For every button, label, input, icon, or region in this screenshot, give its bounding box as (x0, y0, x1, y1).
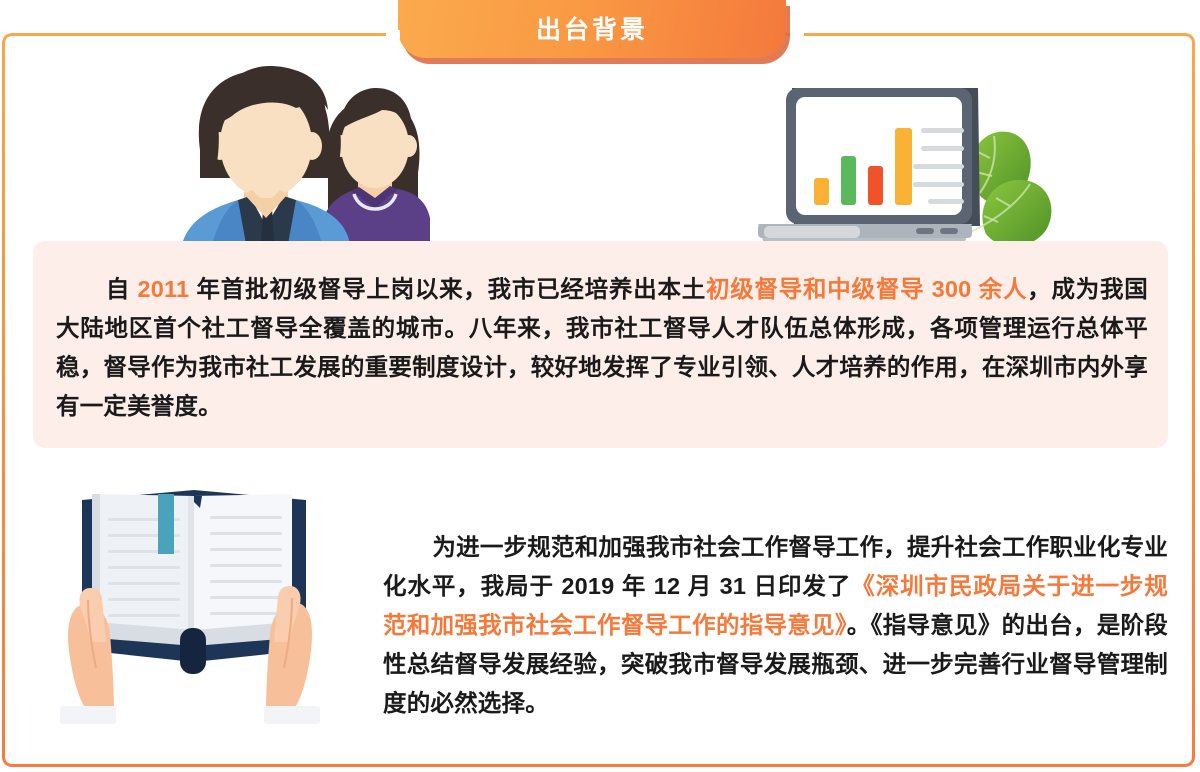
two-people-illustration (168, 58, 430, 244)
infographic-page: 出台背景 (0, 0, 1200, 772)
body-text: 年首批初级督导上岗以来，我市已经培养出本土 (189, 276, 706, 302)
laptop-chart-illustration (758, 66, 1088, 248)
highlighted-text: 初级督导和中级督导 300 余人 (706, 276, 1027, 302)
body-text: 自 (105, 276, 137, 302)
paragraph-background: 自 2011 年首批初级督导上岗以来，我市已经培养出本土初级督导和中级督导 30… (56, 270, 1148, 426)
bookmark (158, 494, 174, 554)
page-title: 出台背景 (536, 16, 648, 43)
paragraph-policy: 为进一步规范和加强我市社会工作督导工作，提升社会工作职业化专业化水平，我局于 2… (383, 528, 1168, 723)
highlight-text-card: 自 2011 年首批初级督导上岗以来，我市已经培养出本土初级督导和中级督导 30… (33, 241, 1168, 448)
header-banner-body: 出台背景 (398, 0, 786, 58)
banner-notch-right (790, 30, 804, 39)
open-book-in-hands-illustration (52, 472, 340, 730)
banner-notch-left (386, 30, 400, 39)
highlighted-text: 2011 (137, 276, 189, 302)
header-banner: 出台背景 (398, 0, 790, 64)
man-figure (182, 66, 350, 244)
